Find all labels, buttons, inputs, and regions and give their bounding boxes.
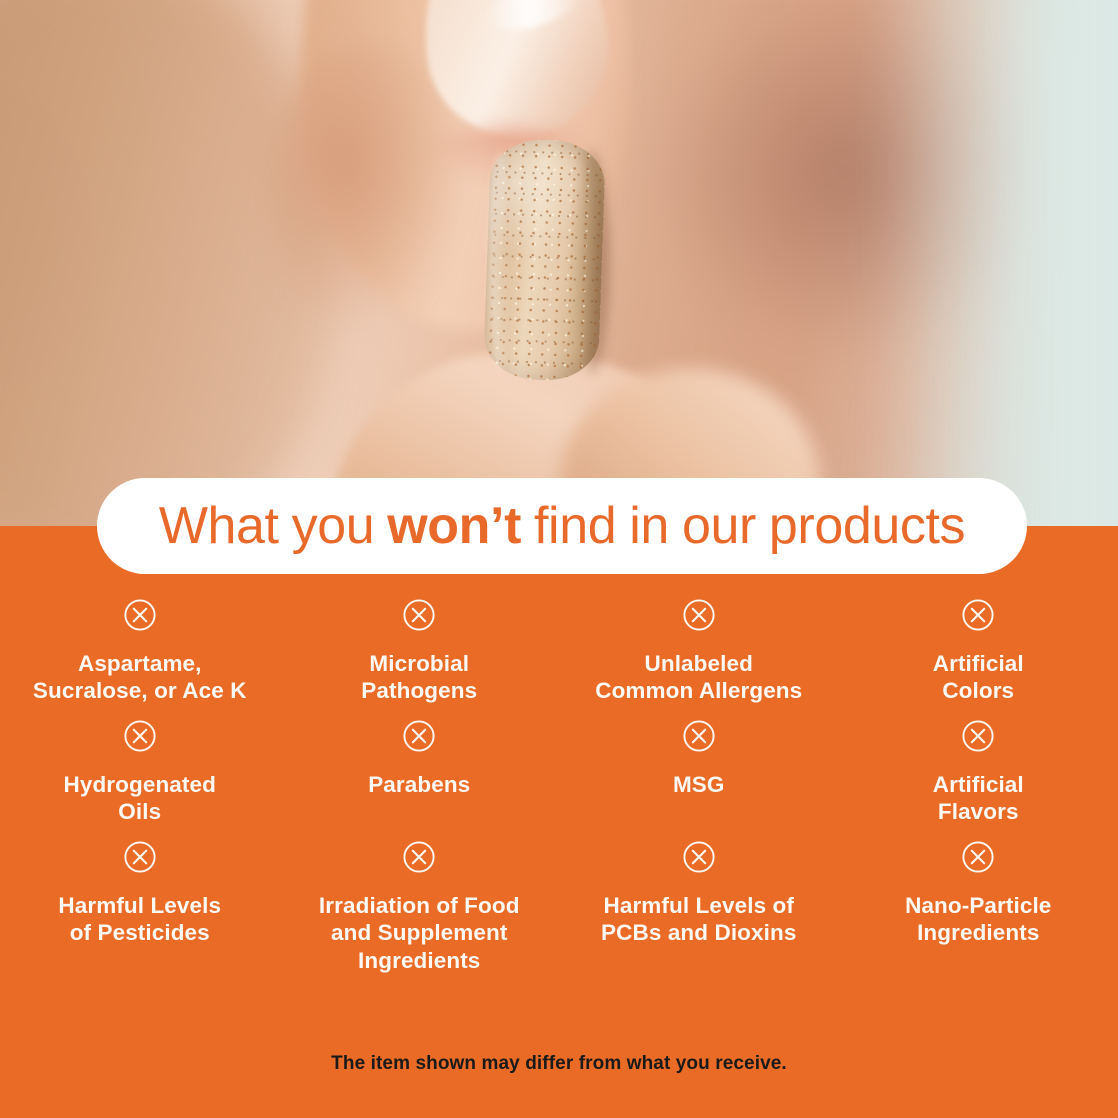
excluded-item: Nano-Particle Ingredients [839, 840, 1118, 974]
excluded-item-label: Artificial Colors [933, 650, 1024, 705]
title-word-5: our [682, 500, 769, 552]
circle-x-icon [961, 719, 995, 753]
circle-x-icon [682, 840, 716, 874]
excluded-item-label: MSG [673, 771, 725, 798]
excluded-item-label: Parabens [368, 771, 470, 798]
circle-x-icon [961, 598, 995, 632]
promo-infographic: Whatyouwon’tfindinourproducts Aspartame,… [0, 0, 1118, 1118]
photo-tablet-shadow [575, 150, 609, 374]
page-title: Whatyouwon’tfindinourproducts [159, 500, 965, 552]
excluded-item-label: Aspartame, Sucralose, or Ace K [33, 650, 247, 705]
circle-x-icon [123, 719, 157, 753]
excluded-item-label: Hydrogenated Oils [64, 771, 216, 826]
circle-x-icon [961, 840, 995, 874]
photo-cool-highlight [878, 0, 1118, 526]
title-word-3: find [534, 500, 629, 552]
excluded-item-label: Harmful Levels of PCBs and Dioxins [601, 892, 796, 947]
title-word-6: products [769, 500, 965, 552]
excluded-item-label: Artificial Flavors [933, 771, 1024, 826]
circle-x-icon [402, 719, 436, 753]
excluded-item-label: Microbial Pathogens [361, 650, 477, 705]
title-word-0: What [159, 500, 292, 552]
circle-x-icon [123, 598, 157, 632]
title-word-1: you [292, 500, 388, 552]
excluded-item-label: Unlabeled Common Allergens [595, 650, 802, 705]
excluded-item: Artificial Colors [839, 598, 1118, 705]
circle-x-icon [402, 840, 436, 874]
excluded-item: Aspartame, Sucralose, or Ace K [0, 598, 280, 705]
circle-x-icon [402, 598, 436, 632]
excluded-item-label: Irradiation of Food and Supplement Ingre… [319, 892, 520, 974]
disclaimer-text: The item shown may differ from what you … [0, 1053, 1118, 1075]
title-word-4: in [629, 500, 682, 552]
photo-tablet-left-edge [489, 152, 511, 370]
excluded-item: Microbial Pathogens [280, 598, 560, 705]
excluded-item: Harmful Levels of PCBs and Dioxins [559, 840, 839, 974]
excluded-item: Harmful Levels of Pesticides [0, 840, 280, 974]
excluded-item-label: Harmful Levels of Pesticides [58, 892, 221, 947]
excluded-item: Parabens [280, 719, 560, 826]
circle-x-icon [682, 598, 716, 632]
excluded-item: Irradiation of Food and Supplement Ingre… [280, 840, 560, 974]
excluded-item: Artificial Flavors [839, 719, 1118, 826]
circle-x-icon [123, 840, 157, 874]
excluded-item-label: Nano-Particle Ingredients [905, 892, 1051, 947]
excluded-item: Hydrogenated Oils [0, 719, 280, 826]
excluded-item: Unlabeled Common Allergens [559, 598, 839, 705]
circle-x-icon [682, 719, 716, 753]
title-pill: Whatyouwon’tfindinourproducts [97, 478, 1027, 574]
hero-photo [0, 0, 1118, 526]
title-word-2: won’t [387, 500, 534, 552]
excluded-ingredients-grid: Aspartame, Sucralose, or Ace KMicrobial … [0, 598, 1118, 974]
excluded-item: MSG [559, 719, 839, 826]
